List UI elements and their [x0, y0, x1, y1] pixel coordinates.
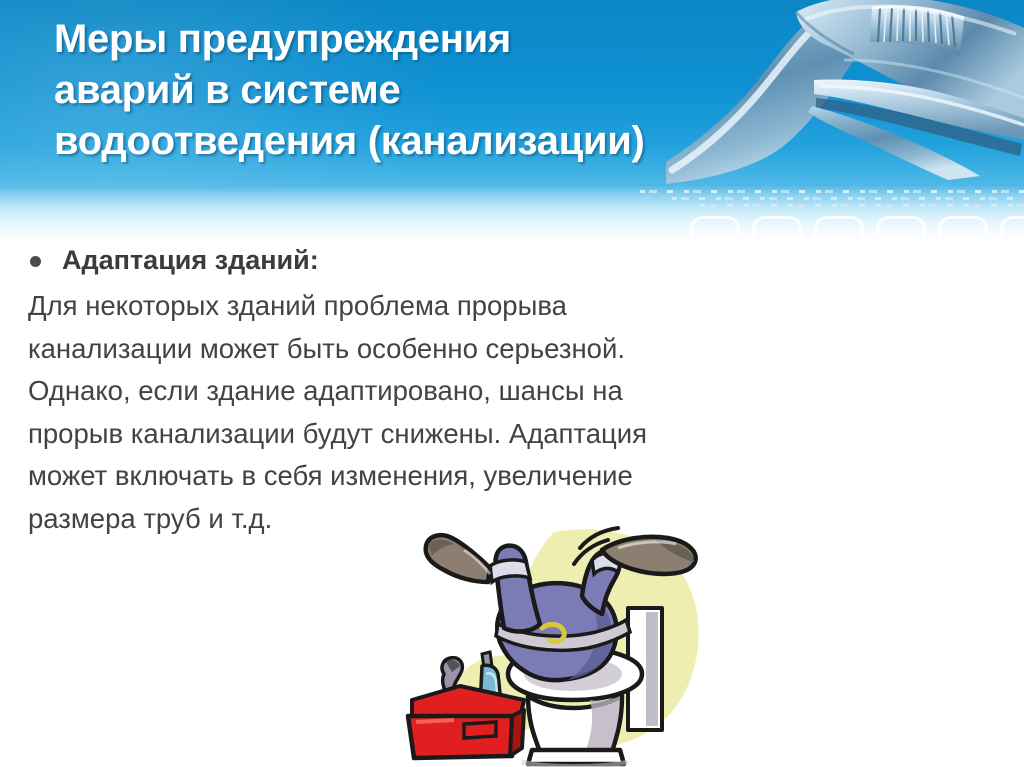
digital-pattern-strip: [700, 204, 1024, 207]
header-band: Меры предупреждения аварий в системе вод…: [0, 0, 1024, 186]
toolbox: [408, 686, 524, 758]
transition-band: [0, 186, 1024, 242]
content-block: Адаптация зданий: Для некоторых зданий п…: [0, 244, 900, 540]
bullet-list-item: Адаптация зданий:: [0, 244, 900, 276]
plumber-in-toilet-illustration: [404, 524, 720, 767]
page-title: Меры предупреждения аварий в системе вод…: [54, 14, 884, 166]
slide-canvas: Меры предупреждения аварий в системе вод…: [0, 0, 1024, 767]
bullet-heading-text: Адаптация зданий:: [62, 245, 319, 275]
digital-pattern-strip: [640, 190, 1024, 193]
bullet-dot-icon: [30, 256, 41, 267]
digital-pattern-strip: [672, 197, 1024, 200]
body-paragraph: Для некоторых зданий проблема прорыва ка…: [0, 285, 900, 540]
